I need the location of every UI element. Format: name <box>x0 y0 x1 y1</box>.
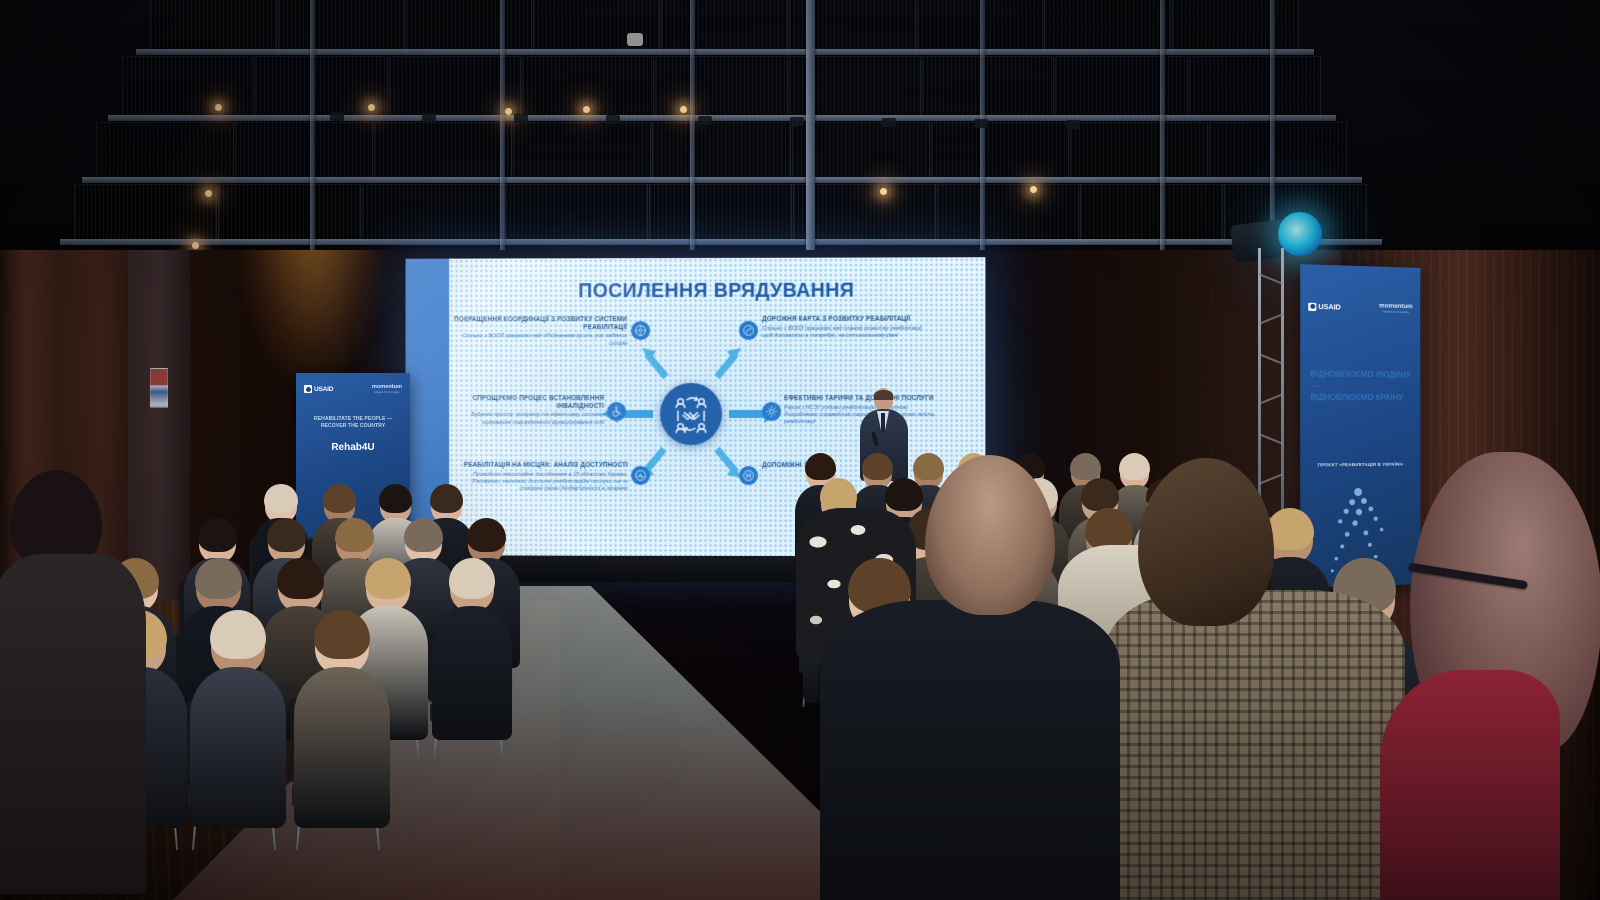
network-nodes-icon <box>631 321 650 340</box>
audience-member-checked-jacket <box>1105 590 1405 900</box>
usaid-logo-right: USAID <box>1308 302 1340 312</box>
roadmap-icon <box>739 321 758 340</box>
audience-hair <box>379 484 412 513</box>
audience-hair <box>1085 508 1133 550</box>
audience-hair <box>335 518 374 552</box>
audience-hair <box>862 453 893 480</box>
banner-left-tagline: REHABILITATE THE PEOPLE — RECOVER THE CO… <box>296 416 410 430</box>
usaid-logo: USAID <box>304 385 333 393</box>
slide-title: ПОСИЛЕННЯ ВРЯДУВАННЯ <box>449 279 985 303</box>
momentum-logo: momentum wheels for humanity <box>372 384 402 394</box>
attendee-red-sweater <box>1380 670 1560 900</box>
grid-truss-ceiling <box>0 0 1600 250</box>
slide-block-coordination: ПОКРАЩЕННЯ КООРДИНАЦІЇ З РОЗВИТКУ СИСТЕМ… <box>453 316 627 348</box>
audience-torso <box>190 667 286 828</box>
audience-hair <box>467 518 506 552</box>
audience-torso <box>294 667 390 828</box>
usaid-logo-mark-right <box>1308 302 1316 310</box>
audience-hair <box>404 518 443 552</box>
handshake-network-icon <box>660 383 722 445</box>
audience-hair <box>1119 453 1150 480</box>
audience-hair <box>365 558 412 599</box>
audience-hair <box>805 453 836 480</box>
audience-hair <box>264 484 297 513</box>
audience-hair <box>820 478 858 511</box>
audience-hair <box>267 518 306 552</box>
audience-hair <box>314 610 370 659</box>
attendee-foreground-left <box>0 470 150 900</box>
smoke-detector-icon <box>627 33 643 46</box>
audience-hair <box>323 484 356 513</box>
audience-torso <box>432 606 512 740</box>
arrow-to-top-left <box>639 346 669 380</box>
audience-hair <box>430 484 463 513</box>
slide-block-local: РЕАБІЛІТАЦІЯ НА МІСЦЯХ: АНАЛІЗ ДОСТУПНОС… <box>455 462 628 494</box>
audience-hair <box>913 453 944 480</box>
slide-block-roadmap: ДОРОЖНЯ КАРТА З РОЗВИТКУ РЕАБІЛІТАЦІЇ Сп… <box>762 316 929 341</box>
banner-right-headline: ВІДНОВЛЮЄМО ЛЮДИНУ — ВІДНОВЛЮЄМО КРАЇНУ <box>1300 368 1420 404</box>
conference-hall-photo: ПОСИЛЕННЯ ВРЯДУВАННЯ <box>0 0 1600 900</box>
audience-hair <box>195 558 242 599</box>
accessibility-analysis-icon <box>631 466 650 485</box>
arrow-to-top-right <box>714 346 744 380</box>
usaid-logo-mark <box>304 385 312 393</box>
blue-led-par-can-icon <box>1278 212 1322 256</box>
audience-member <box>190 612 286 828</box>
slide-block-disability: СПРОЩУЄМО ПРОЦЕС ВСТАНОВЛЕННЯ ІНВАЛІДНОС… <box>457 395 604 427</box>
tariff-gear-icon <box>762 402 781 421</box>
momentum-logo-right: momentum wheels for humanity <box>1379 302 1412 314</box>
audience-member <box>294 612 390 828</box>
audience-member <box>432 560 512 740</box>
presenter-tie <box>881 413 885 433</box>
audience-hair <box>885 478 923 511</box>
attendee-with-glasses <box>1392 452 1600 900</box>
audience-hair <box>449 558 496 599</box>
presenter-hair <box>874 390 893 400</box>
audience-hair <box>198 518 237 552</box>
audience-member-foreground-suit <box>820 600 1120 900</box>
fire-extinguisher-sign-icon <box>150 368 168 408</box>
assistive-device-icon <box>739 466 758 485</box>
audience-hair <box>1081 478 1119 511</box>
banner-left-brand: Rehab4U <box>296 442 410 453</box>
audience-hair <box>277 558 324 599</box>
attendee-left-coat <box>0 554 146 894</box>
wheelchair-icon <box>607 402 626 421</box>
audience-hair <box>210 610 266 659</box>
audience-hair <box>1070 453 1101 480</box>
